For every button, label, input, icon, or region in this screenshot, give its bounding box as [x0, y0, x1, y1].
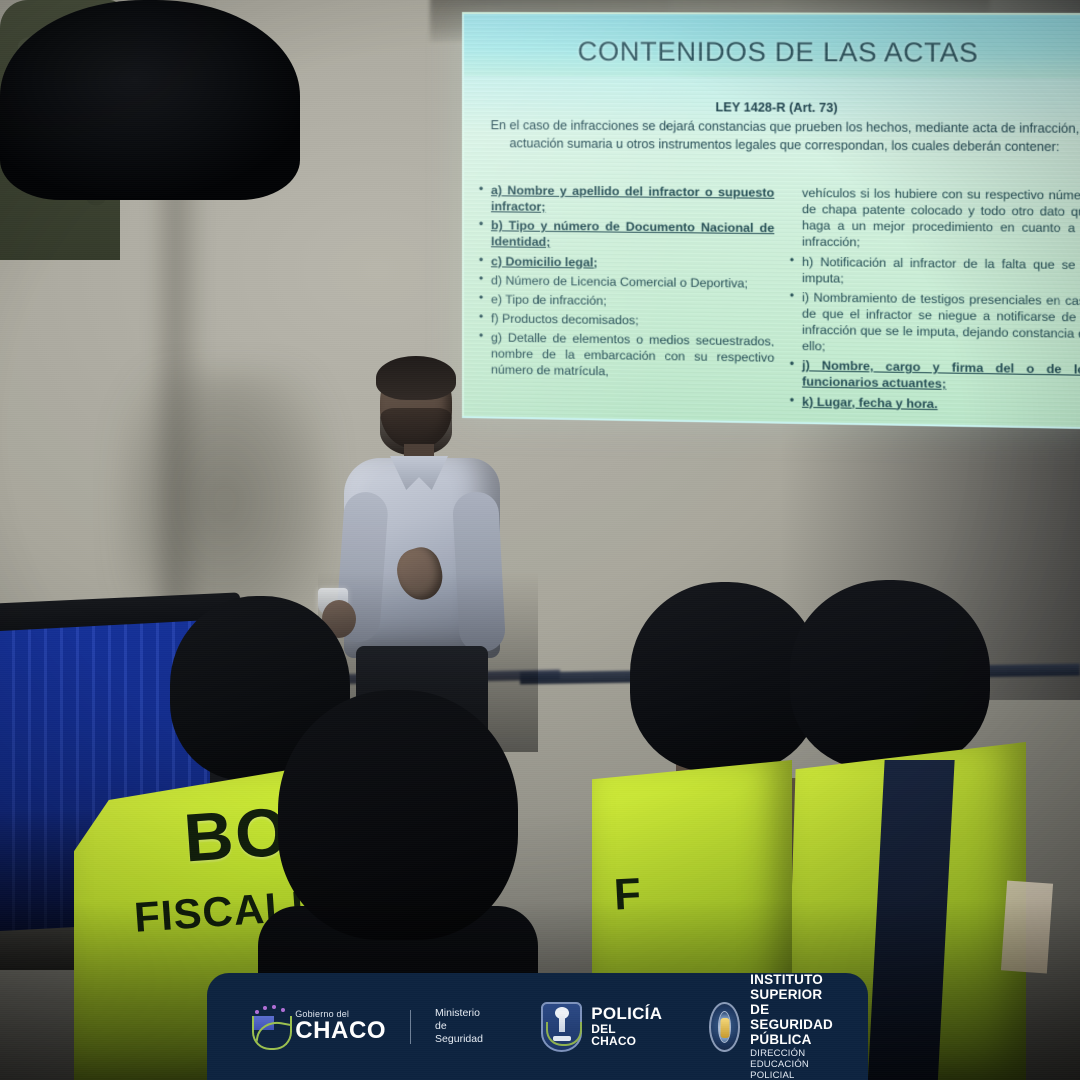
slide-column-right: vehículos si los hubiere con su respecti…: [789, 185, 1080, 423]
bottom-logo-banner: Gobierno del CHACO Ministerio de Segurid…: [207, 973, 868, 1080]
institute-seal-icon: [709, 1002, 740, 1052]
policia-line-1: POLICÍA: [591, 1005, 663, 1023]
logo-divider: [410, 1010, 411, 1044]
list-item: d) Número de Licencia Comercial o Deport…: [478, 272, 774, 292]
instituto-superior-logo: INSTITUTO SUPERIOR DE SEGURIDAD PÚBLICA …: [709, 972, 852, 1080]
list-item: h) Notificación al infractor de la falta…: [789, 253, 1080, 289]
chaco-leaf-icon: [249, 1005, 285, 1049]
gobierno-chaco-wordmark: Gobierno del CHACO: [295, 1010, 386, 1043]
instituto-line-1: INSTITUTO SUPERIOR: [750, 972, 852, 1002]
chaco-dots-icon: [253, 1005, 289, 1015]
list-item: i) Nombramiento de testigos presenciales…: [789, 289, 1080, 359]
laurel-wreath-icon: [546, 1022, 582, 1046]
gobierno-chaco-logo: Gobierno del CHACO Ministerio de Segurid…: [249, 1005, 489, 1049]
instituto-wordmark: INSTITUTO SUPERIOR DE SEGURIDAD PÚBLICA …: [750, 972, 852, 1080]
ministry-line-1: Ministerio: [435, 1007, 489, 1020]
ministry-line-2: de Seguridad: [435, 1020, 489, 1046]
presenter-hair: [376, 356, 456, 400]
slide-columns: a) Nombre y apellido del infractor o sup…: [478, 182, 1080, 423]
list-item: e) Tipo de infracción;: [478, 291, 774, 311]
slide-law-reference: LEY 1428-R (Art. 73): [464, 99, 1080, 117]
list-item-continuation: vehículos si los hubiere con su respecti…: [789, 185, 1080, 254]
policia-wordmark: POLICÍA DEL CHACO: [591, 1005, 663, 1048]
held-paper: [1001, 881, 1053, 974]
instituto-line-2: DE SEGURIDAD PÚBLICA: [750, 1002, 852, 1047]
list-item: c) Domicilio legal;: [478, 253, 774, 273]
audience-head: [790, 580, 990, 770]
presenter-right-arm: [452, 491, 506, 653]
list-item: f) Productos decomisados;: [478, 310, 774, 330]
projected-slide: CONTENIDOS DE LAS ACTAS LEY 1428-R (Art.…: [462, 12, 1080, 429]
list-item: b) Tipo y número de Documento Nacional d…: [478, 217, 774, 253]
audience-head: [278, 690, 518, 940]
slide-intro-paragraph: En el caso de infracciones se dejará con…: [482, 117, 1080, 157]
policia-line-2: DEL CHACO: [591, 1023, 663, 1048]
audience-head: [0, 0, 300, 200]
list-item: a) Nombre y apellido del infractor o sup…: [478, 182, 774, 217]
gobierno-name: CHACO: [295, 1019, 386, 1043]
chaco-leaf-shape: [252, 1016, 292, 1050]
vest-3-text: F: [613, 869, 642, 920]
list-item: j) Nombre, cargo y firma del o de los fu…: [789, 357, 1080, 395]
slide-title: CONTENIDOS DE LAS ACTAS: [464, 36, 1080, 69]
policia-chaco-logo: POLICÍA DEL CHACO: [541, 1002, 663, 1052]
ministry-label: Ministerio de Seguridad: [435, 1007, 489, 1046]
police-shield-icon: [541, 1002, 582, 1052]
instituto-line-3: DIRECCIÓN EDUCACIÓN POLICIAL: [750, 1049, 852, 1080]
presentation-photo: CONTENIDOS DE LAS ACTAS LEY 1428-R (Art.…: [0, 0, 1080, 1080]
list-item: k) Lugar, fecha y hora.: [789, 393, 1080, 415]
